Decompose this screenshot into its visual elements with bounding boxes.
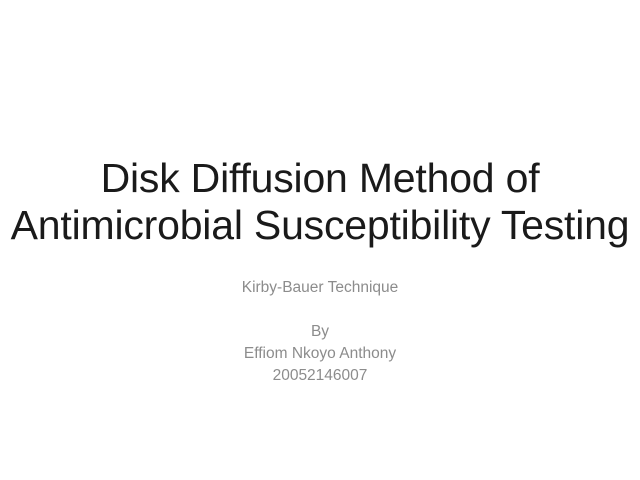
title-slide: Disk Diffusion Method of Antimicrobial S…	[0, 0, 640, 480]
subtitle-spacer	[0, 299, 640, 321]
author-id: 20052146007	[0, 365, 640, 387]
slide-title-line-2: Antimicrobial Susceptibility Testing	[0, 202, 640, 249]
slide-title-line-1: Disk Diffusion Method of	[0, 155, 640, 202]
author-name: Effiom Nkoyo Anthony	[0, 343, 640, 365]
slide-title: Disk Diffusion Method of Antimicrobial S…	[0, 155, 640, 249]
slide-subtitle-block: Kirby-Bauer Technique By Effiom Nkoyo An…	[0, 277, 640, 387]
author-by-label: By	[0, 321, 640, 343]
slide-subtitle: Kirby-Bauer Technique	[0, 277, 640, 299]
